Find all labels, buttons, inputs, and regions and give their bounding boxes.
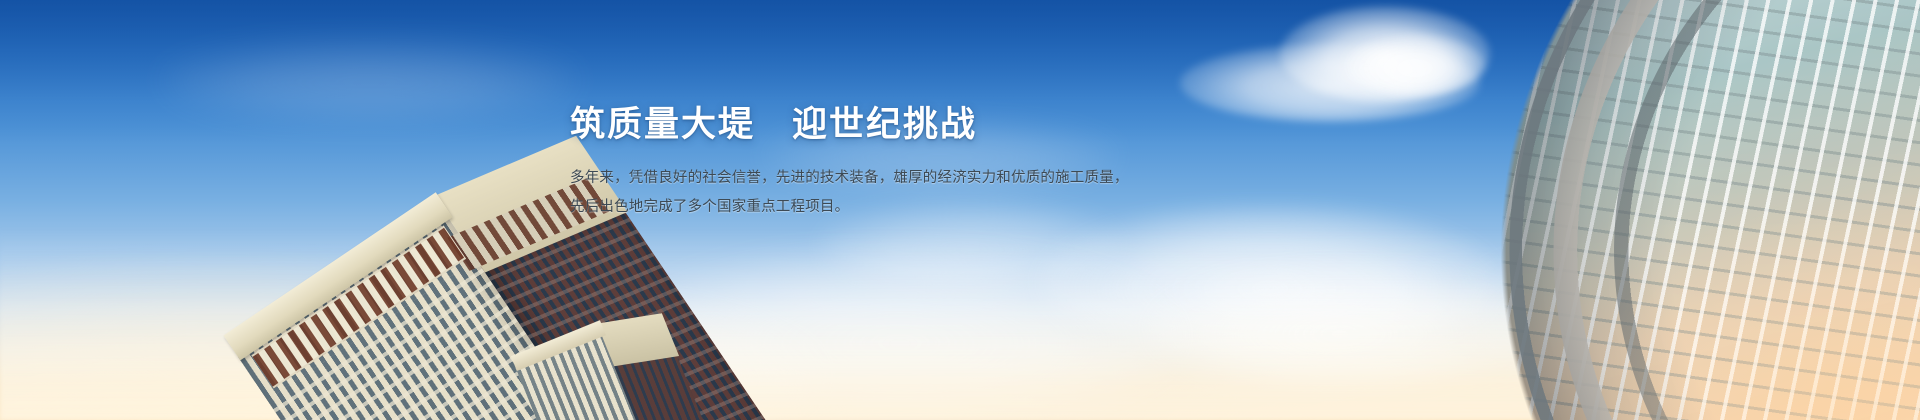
building-facade-stud (1356, 320, 1363, 327)
building-facade-stud (1446, 142, 1453, 149)
banner-subtitle-line-2: 先后出色地完成了多个国家重点工程项目。 (570, 193, 1130, 222)
banner-subtitle-line-1: 多年来，凭借良好的社会信誉，先进的技术装备，雄厚的经济实力和优质的施工质量， (570, 164, 1130, 193)
banner-subtitle: 多年来，凭借良好的社会信誉，先进的技术装备，雄厚的经济实力和优质的施工质量， 先… (570, 164, 1130, 222)
hero-banner: 筑质量大堤 迎世纪挑战 多年来，凭借良好的社会信誉，先进的技术装备，雄厚的经济实… (0, 0, 1920, 420)
banner-copy: 筑质量大堤 迎世纪挑战 多年来，凭借良好的社会信誉，先进的技术装备，雄厚的经济实… (570, 104, 1130, 222)
right-curved-glass-building (1240, 0, 1920, 420)
banner-headline: 筑质量大堤 迎世纪挑战 (570, 104, 1130, 145)
building-facade-stud (1382, 226, 1389, 233)
building-curve-shading (1240, 0, 1920, 420)
building-facade-stud (1416, 78, 1423, 85)
building-curved-mask (1240, 0, 1920, 420)
